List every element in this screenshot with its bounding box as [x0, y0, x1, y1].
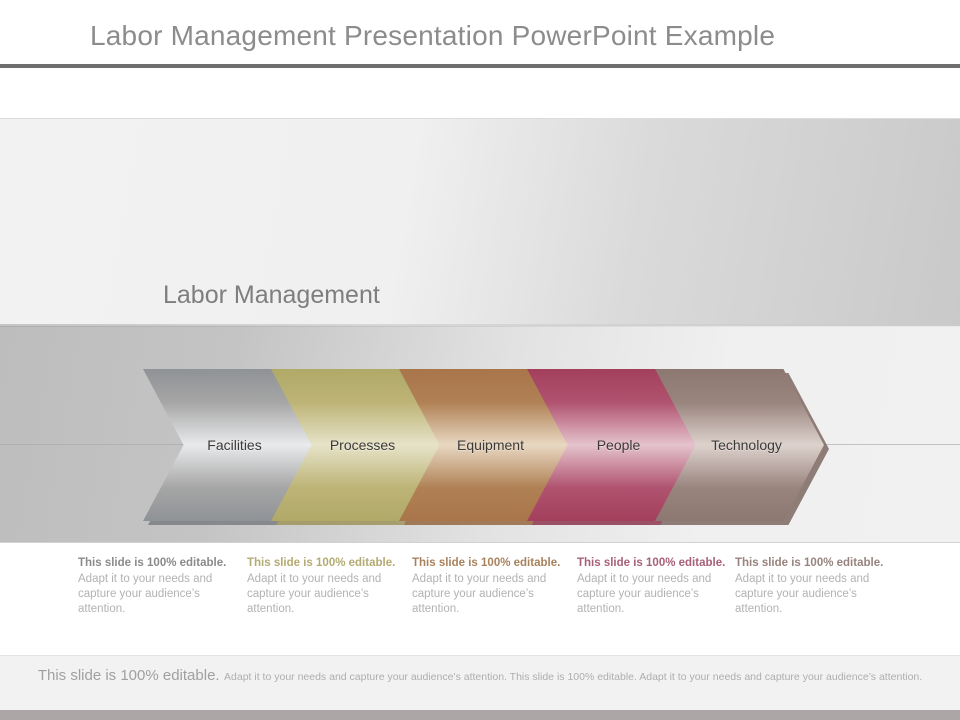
- background-upper-wash: [0, 119, 960, 326]
- slide-canvas: Labor Management Presentation PowerPoint…: [0, 0, 960, 720]
- description-column: This slide is 100% editable.Adapt it to …: [412, 556, 567, 617]
- description-body: Adapt it to your needs and capture your …: [735, 572, 890, 617]
- footer-accent-bar: [0, 710, 960, 720]
- footer-lead-text: This slide is 100% editable.: [38, 667, 220, 684]
- description-column: This slide is 100% editable.Adapt it to …: [78, 556, 233, 617]
- chevron-process-row: FacilitiesProcessesEquipmentPeopleTechno…: [143, 369, 823, 521]
- page-title: Labor Management Presentation PowerPoint…: [90, 20, 775, 52]
- description-heading: This slide is 100% editable.: [247, 556, 402, 571]
- description-heading: This slide is 100% editable.: [78, 556, 233, 571]
- footer-note: This slide is 100% editable. Adapt it to…: [0, 655, 960, 710]
- description-body: Adapt it to your needs and capture your …: [78, 572, 233, 617]
- title-bar: Labor Management Presentation PowerPoint…: [0, 0, 960, 64]
- chevron-technology[interactable]: Technology: [655, 369, 824, 521]
- title-divider: [0, 64, 960, 68]
- description-heading: This slide is 100% editable.: [735, 556, 890, 571]
- description-columns: This slide is 100% editable.Adapt it to …: [0, 556, 960, 646]
- content-panel: Labor Management Operational Performance…: [0, 118, 960, 543]
- background-seam: [0, 324, 960, 327]
- description-body: Adapt it to your needs and capture your …: [412, 572, 567, 617]
- footer-body-text: Adapt it to your needs and capture your …: [224, 671, 922, 683]
- description-column: This slide is 100% editable.Adapt it to …: [735, 556, 890, 617]
- description-heading: This slide is 100% editable.: [412, 556, 567, 571]
- chevron-label: Technology: [655, 369, 824, 521]
- description-heading: This slide is 100% editable.: [577, 556, 732, 571]
- description-body: Adapt it to your needs and capture your …: [577, 572, 732, 617]
- description-column: This slide is 100% editable.Adapt it to …: [247, 556, 402, 617]
- description-column: This slide is 100% editable.Adapt it to …: [577, 556, 732, 617]
- heading-labor-management: Labor Management: [163, 281, 380, 310]
- description-body: Adapt it to your needs and capture your …: [247, 572, 402, 617]
